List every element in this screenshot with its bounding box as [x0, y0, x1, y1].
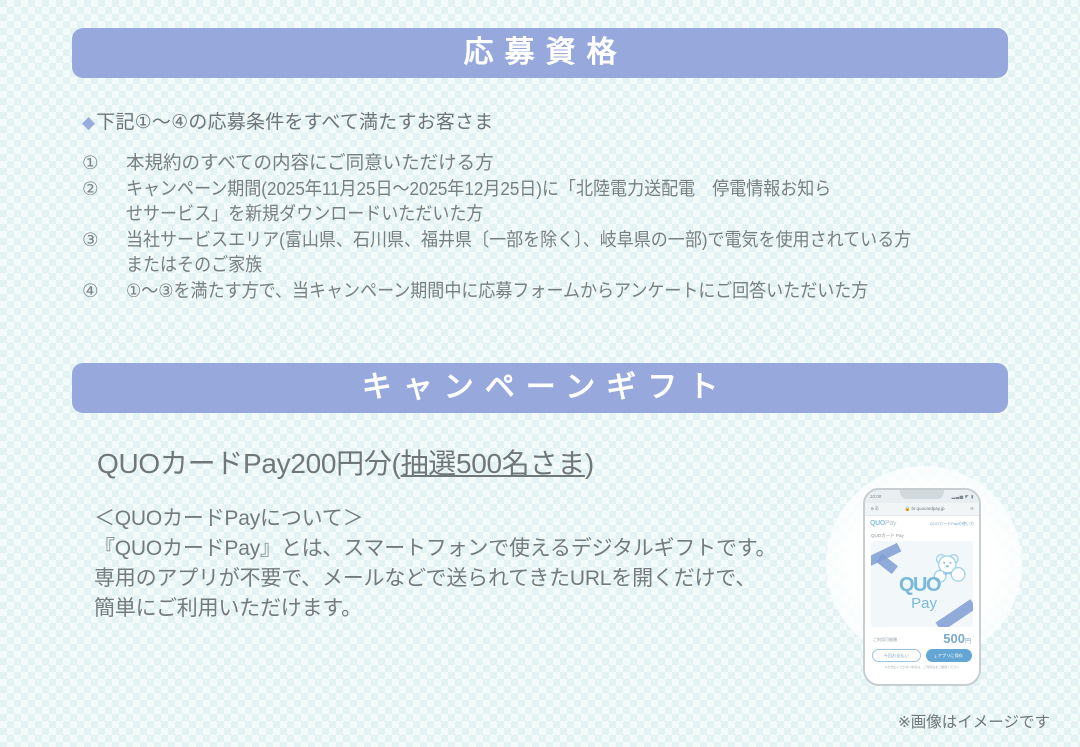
condition-number: ② — [82, 176, 126, 201]
condition-number: ④ — [82, 278, 126, 303]
condition-item: ③ 当社サービスエリア(富山県、石川県、福井県〔一部を除く〕、岐阜県の一部)で電… — [82, 227, 1012, 277]
gift-amount-suffix: ) — [585, 448, 594, 479]
phone-text-size-icon[interactable]: ぁあ — [870, 506, 879, 512]
condition-text: キャンペーン期間(2025年11月25日～2025年12月25日)に「北陸電力送… — [126, 176, 941, 226]
section-header-gift: キャンペーンギフト — [72, 363, 1008, 413]
phone-footnote: ※お支払いできない場合は、ご利用先をご確認ください — [865, 662, 979, 669]
phone-save-to-app-button[interactable]: ⤓ アプリに保存 — [926, 649, 973, 662]
phone-status-signal-icon: ▂▃▅ ◤ ▮ — [952, 494, 974, 500]
phone-url-text: 🔒 br.quocardpay.jp — [905, 506, 945, 512]
download-icon: ⤓ — [935, 653, 937, 658]
diamond-bullet-icon: ◆ — [82, 114, 95, 131]
section-title-qualification: 応募資格 — [453, 38, 628, 68]
phone-amount-row: ご利用可能額 500円 — [865, 627, 979, 647]
phone-amount-label: ご利用可能額 — [873, 637, 897, 643]
card-pay-logo: Pay — [911, 596, 937, 611]
phone-url-bar[interactable]: ぁあ 🔒 br.quocardpay.jp ⟳ — [865, 503, 979, 516]
quo-pay-phone-figure: 10:00 ▂▃▅ ◤ ▮ ぁあ 🔒 br.quocardpay.jp ⟳ QU… — [826, 466, 1026, 691]
gift-lottery-count: 抽選500名さま — [401, 448, 585, 479]
phone-card-label: QUOカード Pay — [865, 531, 979, 541]
qualification-lead-text: 下記①～④の応募条件をすべて満たすお客さま — [96, 107, 493, 134]
condition-text: ①～③を満たす方で、当キャンペーン期間中に応募フォームからアンケートにご回答いた… — [126, 278, 941, 303]
phone-status-time: 10:00 — [870, 494, 881, 499]
section-header-qualification: 応募資格 — [72, 28, 1008, 78]
reload-icon[interactable]: ⟳ — [970, 506, 974, 512]
page-background: 応募資格 ◆ 下記①～④の応募条件をすべて満たすお客さま ① 本規約のすべての内… — [0, 0, 1080, 747]
condition-text: 当社サービスエリア(富山県、石川県、福井県〔一部を除く〕、岐阜県の一部)で電気を… — [126, 227, 941, 277]
phone-amount-unit: 円 — [965, 639, 971, 645]
ribbon-decoration-icon — [936, 599, 973, 627]
phone-amount-value: 500円 — [943, 632, 971, 645]
condition-item: ① 本規約のすべての内容にご同意いただける方 — [82, 150, 1012, 175]
conditions-list: ① 本規約のすべての内容にご同意いただける方 ② キャンペーン期間(2025年1… — [82, 150, 1012, 304]
phone-save-to-app-label: アプリに保存 — [938, 653, 963, 659]
gift-description: ＜QUOカードPayについて＞ 『QUOカードPay』とは、スマートフォンで使え… — [94, 504, 776, 624]
ribbon-decoration-icon — [876, 554, 898, 574]
gift-amount-line: QUOカードPay200円分(抽選500名さま) — [97, 442, 594, 482]
phone-mockup: 10:00 ▂▃▅ ◤ ▮ ぁあ 🔒 br.quocardpay.jp ⟳ QU… — [863, 488, 981, 686]
condition-number: ③ — [82, 227, 126, 252]
phone-notch — [900, 490, 944, 499]
quo-pay-logo-pay: Pay — [885, 520, 896, 527]
phone-brand-bar: QUOPay QUOカードPayの使い方 — [865, 516, 979, 531]
gift-amount-prefix: QUOカードPay200円分( — [97, 448, 401, 479]
qualification-lead: ◆ 下記①～④の応募条件をすべて満たすお客さま — [82, 107, 493, 134]
condition-text: 本規約のすべての内容にご同意いただける方 — [126, 150, 1012, 175]
section-title-gift: キャンペーンギフト — [351, 373, 730, 403]
quo-pay-card-graphic: quo QUO Pay — [871, 541, 973, 627]
bear-badge-text: quo — [943, 570, 951, 575]
condition-item: ④ ①～③を満たす方で、当キャンペーン期間中に応募フォームからアンケートにご回答… — [82, 278, 1012, 303]
card-quo-logo: QUO — [899, 575, 940, 595]
condition-number: ① — [82, 150, 126, 175]
quo-pay-logo: QUOPay — [870, 520, 896, 527]
image-disclaimer-note: ※画像はイメージです — [898, 710, 1050, 732]
phone-status-bar: 10:00 ▂▃▅ ◤ ▮ — [865, 490, 979, 503]
phone-pay-button[interactable]: 今回お支払い — [872, 649, 921, 662]
phone-amount-number: 500 — [943, 631, 965, 646]
quo-pay-logo-quo: QUO — [870, 520, 885, 527]
phone-button-row: 今回お支払い ⤓ アプリに保存 — [865, 647, 979, 662]
condition-item: ② キャンペーン期間(2025年11月25日～2025年12月25日)に「北陸電… — [82, 176, 1012, 226]
phone-nav-link[interactable]: QUOカードPayの使い方 — [930, 521, 974, 527]
